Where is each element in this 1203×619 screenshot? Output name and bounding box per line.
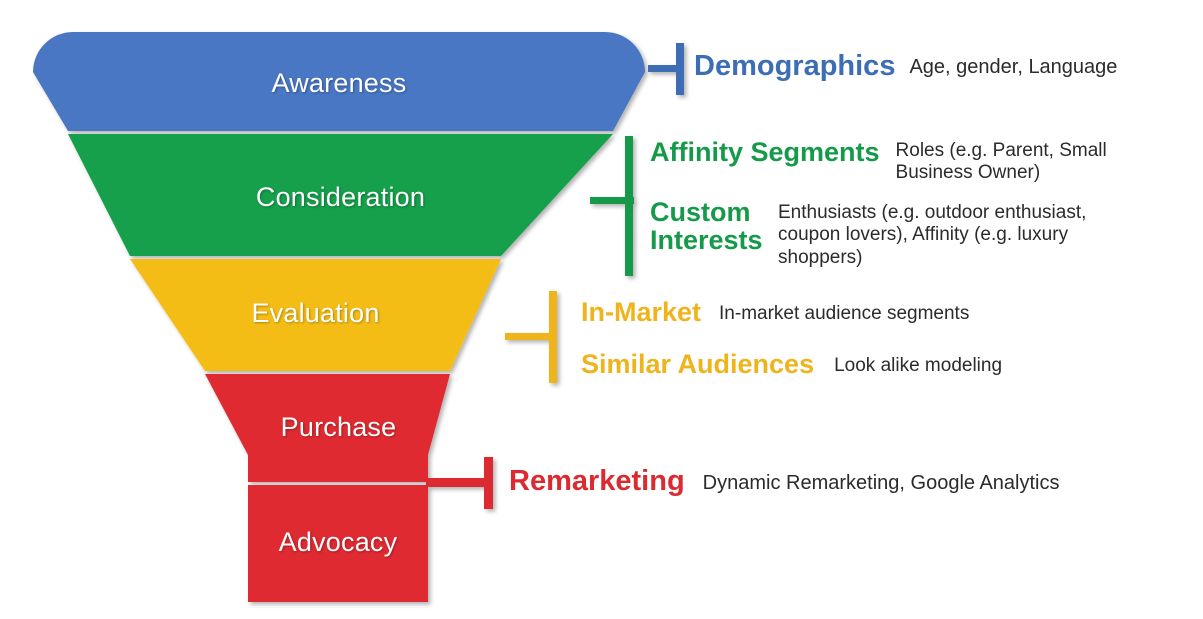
funnel-segment-consideration[interactable] [68, 134, 613, 256]
callout-demographics-title: Demographics [694, 51, 895, 81]
callout-similar-audiences-description: Look alike modeling [834, 350, 1002, 377]
callout-custom-interests[interactable]: Custom Interests Enthusiasts (e.g. outdo… [650, 198, 1123, 269]
callout-affinity-segments-description: Roles (e.g. Parent, Small Business Owner… [896, 138, 1124, 185]
funnel-segment-evaluation[interactable] [130, 259, 501, 371]
callout-in-market-description: In-market audience segments [719, 298, 969, 325]
callout-custom-interests-description: Enthusiasts (e.g. outdoor enthusiast, co… [778, 198, 1123, 269]
connector-purchase [426, 457, 493, 509]
funnel-segment-purchase[interactable] [205, 374, 450, 482]
connector-evaluation [505, 291, 557, 383]
funnel-diagram: Awareness Consideration Evaluation Purch… [0, 0, 1203, 619]
callout-affinity-segments[interactable]: Affinity Segments Roles (e.g. Parent, Sm… [650, 138, 1124, 185]
callout-demographics[interactable]: Demographics Age, gender, Language [694, 51, 1117, 81]
funnel-segment-awareness[interactable] [33, 32, 645, 131]
callout-remarketing[interactable]: Remarketing Dynamic Remarketing, Google … [509, 466, 1060, 496]
callout-remarketing-description: Dynamic Remarketing, Google Analytics [703, 466, 1060, 496]
funnel-segment-advocacy[interactable] [248, 485, 428, 602]
callout-remarketing-title: Remarketing [509, 466, 685, 496]
callout-in-market-title: In-Market [581, 298, 701, 326]
connector-awareness [648, 43, 684, 95]
callout-affinity-segments-title: Affinity Segments [650, 138, 880, 166]
callout-similar-audiences[interactable]: Similar Audiences Look alike modeling [581, 350, 1002, 378]
callout-demographics-description: Age, gender, Language [909, 51, 1117, 80]
callout-similar-audiences-title: Similar Audiences [581, 350, 814, 378]
connector-consideration [590, 136, 634, 276]
callout-custom-interests-title: Custom Interests [650, 198, 772, 255]
callout-in-market[interactable]: In-Market In-market audience segments [581, 298, 969, 326]
